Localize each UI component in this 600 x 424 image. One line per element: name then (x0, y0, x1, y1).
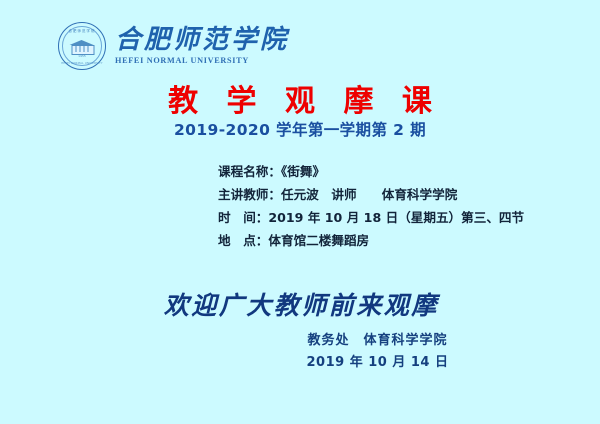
page-title: 教 学 观 摩 课 (0, 76, 600, 120)
seal-building-icon (70, 40, 95, 54)
page-subtitle: 2019-2020 学年第一学期第 2 期 (0, 118, 600, 140)
wordmark-chinese: 合肥师范学院 (115, 27, 289, 54)
wordmark: 合肥师范学院 HEFEI NORMAL UNIVERSITY (115, 27, 289, 65)
detail-location: 地 点：体育馆二楼舞蹈房 (218, 229, 524, 252)
footer-date: 2019 年 10 月 14 日 (0, 352, 600, 374)
seal-year: 1955 (78, 54, 86, 58)
footer-block: 教务处 体育科学学院 2019 年 10 月 14 日 (0, 330, 600, 374)
wordmark-english: HEFEI NORMAL UNIVERSITY (115, 56, 289, 65)
seal-arc-text: 合肥师范学院 (69, 28, 96, 33)
detail-time: 时 间：2019 年 10 月 18 日（星期五）第三、四节 (218, 206, 524, 229)
detail-course-name: 课程名称：《街舞》 (218, 160, 524, 183)
details-block: 课程名称：《街舞》 主讲教师：任元波 讲师 体育科学学院 时 间：2019 年 … (218, 160, 524, 252)
poster-canvas: 合肥师范学院 1955 HEFEI NORMAL UNIVERSITY 合肥师范… (0, 0, 600, 424)
detail-instructor: 主讲教师：任元波 讲师 体育科学学院 (218, 183, 524, 206)
welcome-message: 欢迎广大教师前来观摩 (0, 286, 600, 322)
university-logo: 合肥师范学院 1955 HEFEI NORMAL UNIVERSITY 合肥师范… (58, 22, 289, 70)
seal-bottom-text: HEFEI NORMAL UNIVERSITY (61, 62, 103, 65)
university-seal-icon: 合肥师范学院 1955 HEFEI NORMAL UNIVERSITY (58, 22, 106, 70)
footer-organizers: 教务处 体育科学学院 (0, 330, 600, 352)
